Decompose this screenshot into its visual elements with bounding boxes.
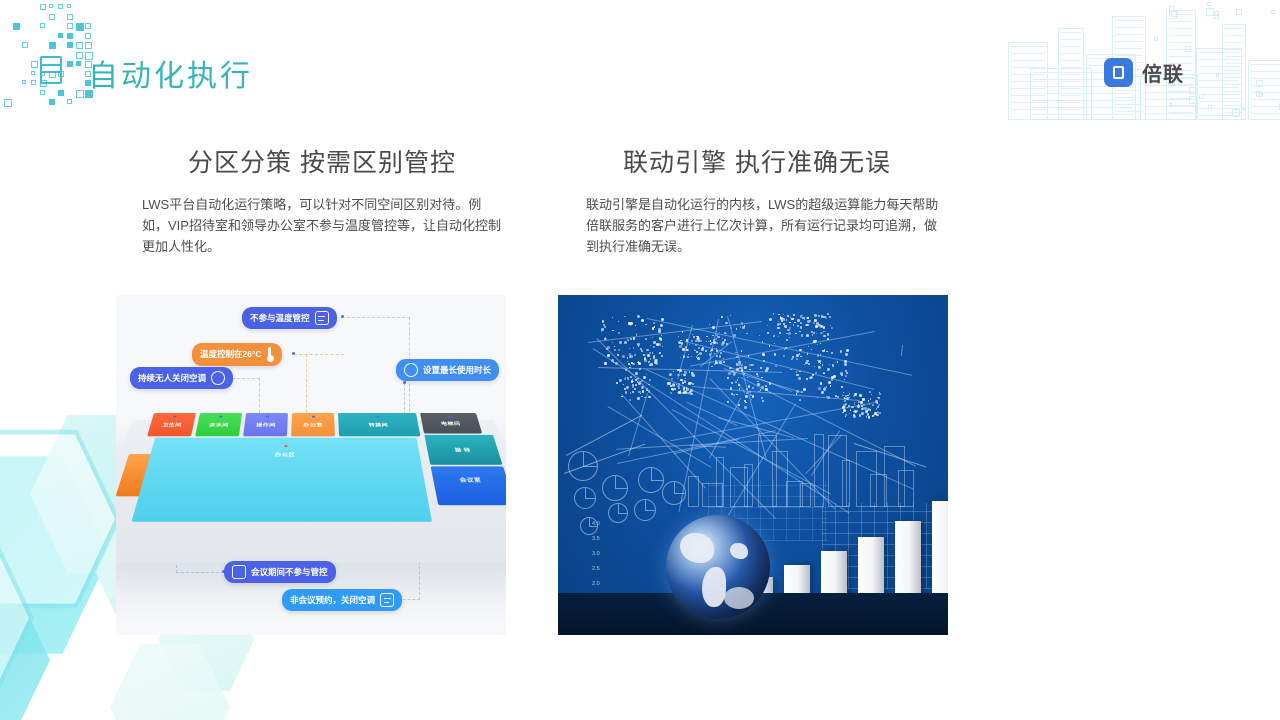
- 3d-globe: [666, 515, 770, 619]
- callout-label: 会议期间不参与管控: [251, 568, 328, 577]
- pie-chart-blueprint: [602, 475, 628, 501]
- axis-tick-label: 2.0: [592, 581, 600, 587]
- room-block: 茶水间: [195, 413, 242, 436]
- axis-tick-label: 3.5: [592, 536, 600, 542]
- column-left-body: LWS平台自动化运行策略，可以针对不同空间区别对待。例如，VIP招待室和领导办公…: [116, 194, 508, 257]
- brand-mark-icon: [1104, 58, 1133, 87]
- zoned-control-diagram: 卫生间 茶水间 操作间 办公室 转换间 电梯间 接 待 会议室: [116, 295, 506, 635]
- callout-chip-unoccupied-ac-off[interactable]: 持续无人关闭空调: [130, 367, 233, 389]
- room-label: 茶水间: [209, 421, 229, 427]
- connector-dot: [403, 381, 406, 384]
- continent-shape: [680, 533, 714, 563]
- pie-chart-blueprint: [608, 503, 628, 523]
- room-label: 电梯间: [440, 420, 461, 426]
- callout-label: 设置最长使用时长: [423, 366, 491, 375]
- connector-line: [294, 354, 344, 355]
- connector-line: [232, 378, 260, 379]
- axis-tick-label: 2.5: [592, 566, 600, 572]
- isometric-floorplan: 卫生间 茶水间 操作间 办公室 转换间 电梯间 接 待 会议室: [116, 295, 506, 635]
- room-block: 办公区: [132, 438, 432, 522]
- pie-chart-blueprint: [638, 467, 664, 493]
- room-label: 转换间: [368, 421, 388, 427]
- callout-chip-max-usage-duration[interactable]: 设置最长使用时长: [396, 359, 499, 381]
- slide-header: 自动化执行 倍联: [0, 0, 1280, 120]
- room-block: 办公室: [291, 413, 335, 436]
- calendar-clock-icon: [380, 593, 394, 607]
- axis-tick-label: 3.0: [592, 551, 600, 557]
- column-right-heading: 联动引擎 执行准确无误: [558, 150, 948, 178]
- room-label: 办公室: [303, 421, 322, 427]
- room-blocks: 卫生间 茶水间 操作间 办公室 转换间 电梯间 接 待 会议室: [116, 413, 506, 564]
- continent-shape: [724, 587, 754, 609]
- room-label: 操作间: [256, 421, 276, 427]
- axis-tick-label: 4.0: [592, 521, 600, 527]
- room-block: 电梯间: [420, 413, 482, 433]
- column-left: 分区分策 按需区别管控 LWS平台自动化运行策略，可以针对不同空间区别对待。例如…: [116, 150, 508, 257]
- room-block: 操作间: [243, 413, 288, 436]
- timer-clock-icon: [404, 363, 418, 377]
- room-block: 转换间: [338, 413, 420, 436]
- network-line: [901, 345, 903, 356]
- callout-label: 持续无人关闭空调: [138, 374, 206, 383]
- connector-dot: [341, 315, 344, 318]
- callout-label: 温度控制在26°C: [200, 350, 262, 359]
- blueprint-building: [688, 476, 699, 507]
- connector-line: [176, 572, 224, 573]
- brand-logo: 倍联: [1104, 58, 1184, 87]
- document-list-icon: [315, 311, 329, 325]
- room-block: 卫生间: [147, 413, 196, 436]
- connector-line: [342, 317, 410, 318]
- room-block: 会议室: [431, 466, 506, 505]
- presentation-board-icon: [232, 565, 246, 579]
- thermometer-icon: [267, 347, 274, 362]
- global-data-analytics-photo: 4.03.53.02.52.01.51.0: [558, 295, 948, 635]
- column-right-body: 联动引擎是自动化运行的内核，LWS的超级运算能力每天帮助倍联服务的客户进行上亿次…: [558, 194, 948, 257]
- column-right: 联动引擎 执行准确无误 联动引擎是自动化运行的内核，LWS的超级运算能力每天帮助…: [558, 150, 948, 257]
- photo-background: 4.03.53.02.52.01.51.0: [558, 295, 948, 635]
- continent-shape: [730, 543, 748, 559]
- callout-label: 非会议预约，关闭空调: [290, 596, 375, 605]
- network-line: [677, 325, 693, 379]
- callout-chip-temperature-26c[interactable]: 温度控制在26°C: [192, 343, 282, 366]
- callout-label: 不参与温度管控: [250, 314, 310, 323]
- room-label: 卫生间: [162, 421, 183, 427]
- connector-dot: [292, 352, 295, 355]
- callout-chip-no-booking-ac-off[interactable]: 非会议预约，关闭空调: [282, 589, 402, 611]
- callout-chip-no-temperature-control[interactable]: 不参与温度管控: [242, 307, 337, 329]
- room-label: 接 待: [454, 446, 471, 453]
- column-left-heading: 分区分策 按需区别管控: [116, 150, 508, 178]
- motion-sensor-icon: [211, 371, 225, 385]
- room-label: 办公区: [275, 451, 296, 458]
- brand-name: 倍联: [1142, 58, 1184, 87]
- room-block: 接 待: [424, 435, 502, 465]
- connector-line: [259, 378, 260, 418]
- pie-chart-blueprint: [662, 481, 686, 505]
- pie-chart-blueprint: [634, 499, 656, 521]
- pie-chart-blueprints: [562, 447, 682, 567]
- pie-chart-blueprint: [574, 487, 596, 509]
- continent-shape: [702, 567, 726, 607]
- page-title: 自动化执行: [88, 51, 253, 95]
- callout-chip-meeting-exempt[interactable]: 会议期间不参与管控: [224, 561, 336, 583]
